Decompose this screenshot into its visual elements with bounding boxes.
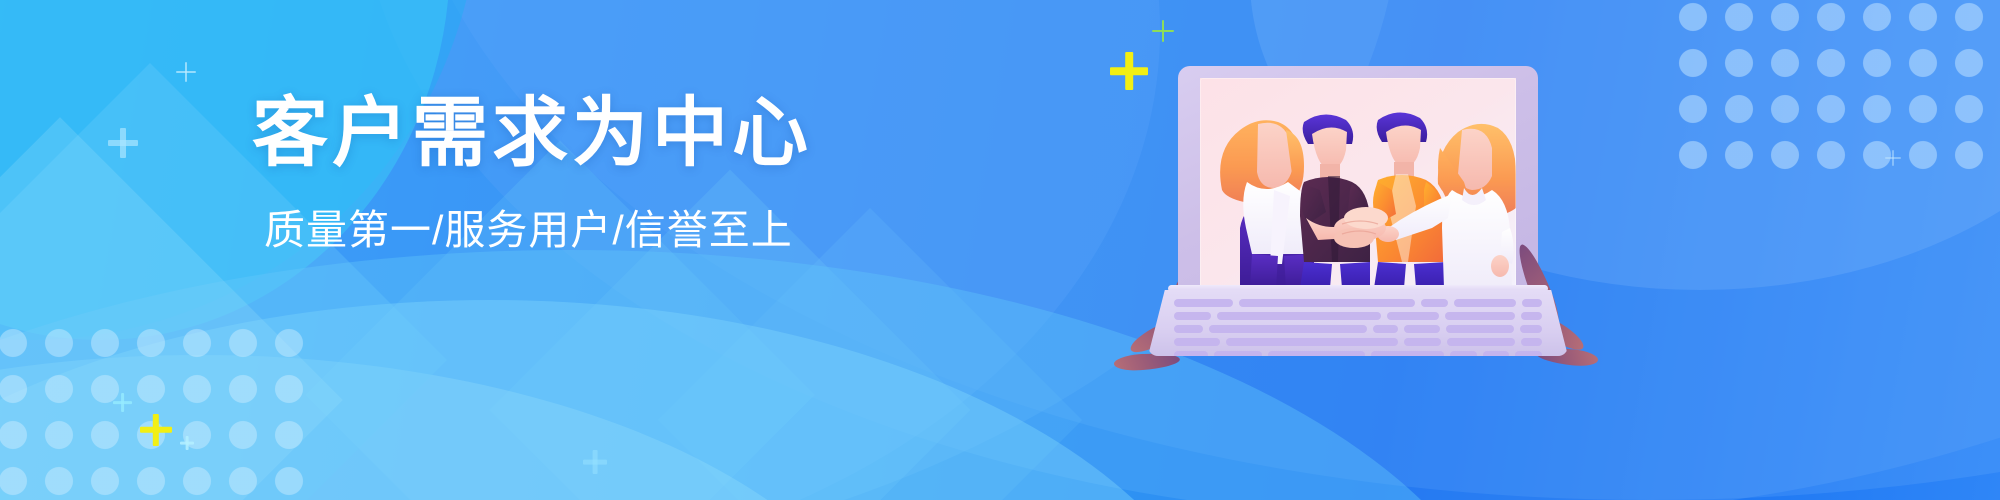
laptop-teamwork-illustration [1148, 66, 1568, 356]
plus-cyan-5-icon [583, 450, 607, 474]
laptop-screen [1200, 78, 1516, 288]
plus-yellow-large-icon [1110, 52, 1148, 90]
dot-grid-top-right-icon [1670, 0, 2000, 184]
keyboard-row [1174, 325, 1542, 333]
dot-grid-bottom-left-icon [0, 320, 320, 500]
banner-copy: 客户需求为中心 质量第一/服务用户/信誉至上 [252, 96, 892, 251]
keyboard-row [1174, 312, 1542, 320]
plus-cyan-2-icon [108, 128, 138, 158]
laptop-keyboard-base [1148, 290, 1568, 356]
plus-green-small-icon [1152, 20, 1174, 42]
keyboard-row [1174, 299, 1542, 307]
banner-headline: 客户需求为中心 [252, 96, 892, 172]
marketing-banner: 客户需求为中心 质量第一/服务用户/信誉至上 [0, 0, 2000, 500]
plus-cyan-6-icon [1885, 150, 1901, 166]
plus-cyan-3-icon [113, 393, 132, 412]
keyboard-row [1174, 338, 1542, 346]
plus-cyan-4-icon [180, 436, 194, 450]
keyboard-row-space [1174, 351, 1542, 359]
screen-inner-edge [1200, 78, 1516, 288]
plus-cyan-1-icon [176, 62, 196, 82]
banner-subheadline: 质量第一/服务用户/信誉至上 [264, 210, 892, 251]
laptop-lid [1178, 66, 1538, 294]
plus-yellow-bottom-icon [140, 414, 172, 446]
